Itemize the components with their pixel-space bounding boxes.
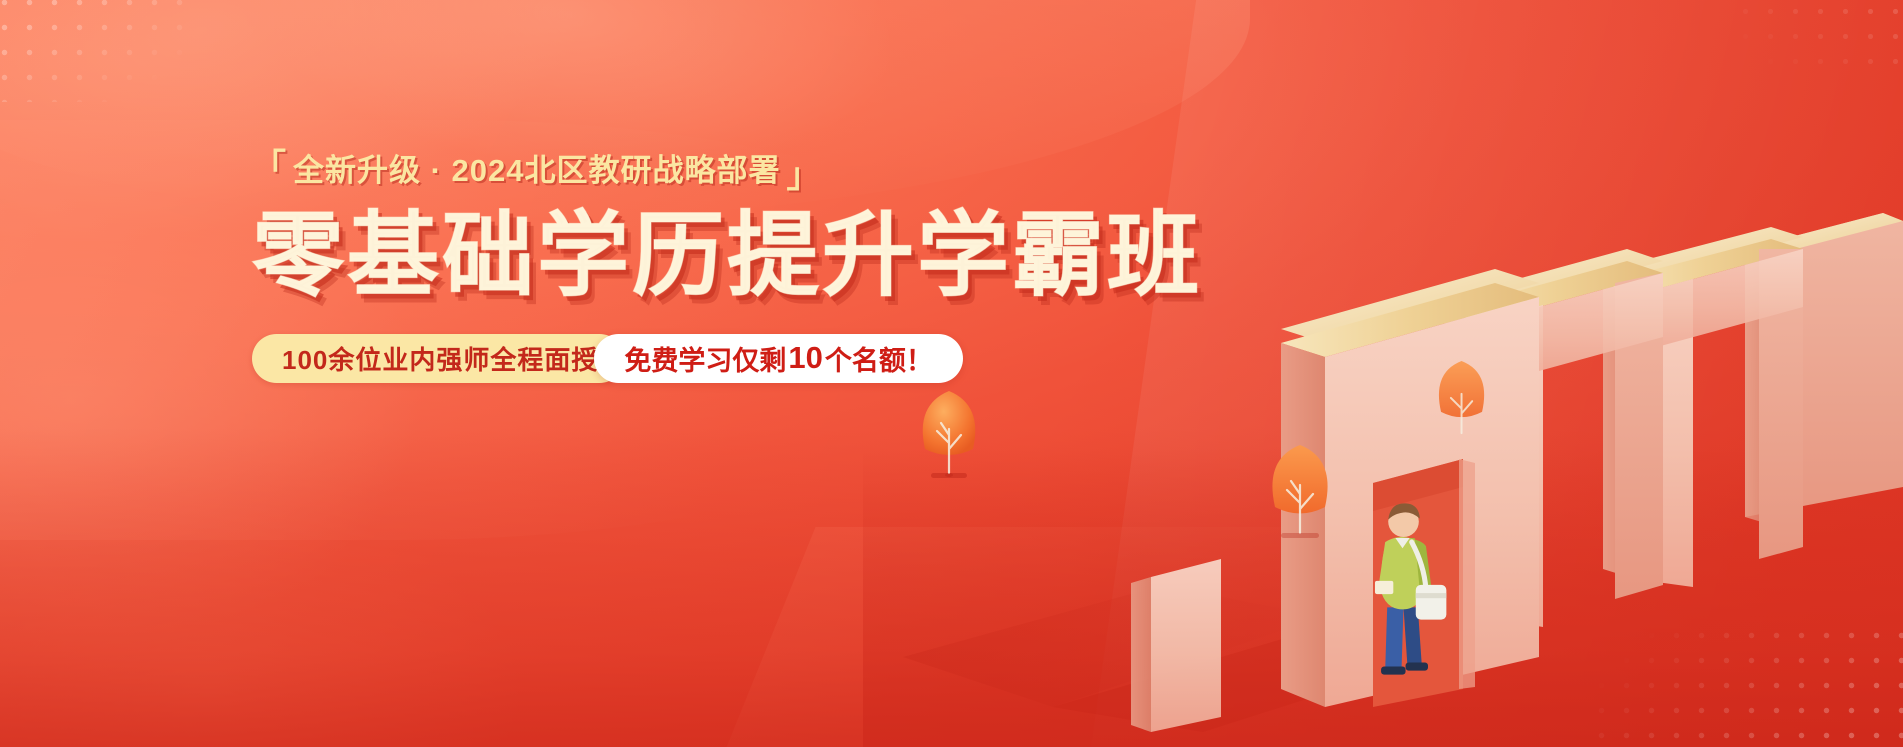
seats-prefix-label: 免费学习仅剩 xyxy=(624,339,786,378)
bracket-open-icon: 「 xyxy=(252,150,287,184)
bracket-close-icon: 」 xyxy=(787,159,822,193)
banner-subtitle-text: 全新升级 · 2024北区教研战略部署 xyxy=(293,155,781,186)
foreground-wall xyxy=(1131,559,1221,732)
dot-grid-icon-top-left xyxy=(0,0,197,102)
exclamation-mark: ！ xyxy=(906,339,933,378)
promo-banner: 「 全新升级 · 2024北区教研战略部署 」 零基础学历提升学霸班 100余位… xyxy=(0,0,1903,747)
copy-block: 「 全新升级 · 2024北区教研战略部署 」 零基础学历提升学霸班 100余位… xyxy=(252,150,1012,383)
badge-row: 100余位业内强师全程面授 免费学习仅剩10个名额！ xyxy=(252,334,1012,383)
instructors-badge: 100余位业内强师全程面授 xyxy=(252,334,624,383)
dot-grid-icon-top-right xyxy=(1733,0,1903,84)
seats-count: 10 xyxy=(786,340,824,376)
seats-suffix-label: 个名额 xyxy=(825,339,906,378)
banner-subtitle: 「 全新升级 · 2024北区教研战略部署 」 xyxy=(252,150,1012,190)
banner-headline: 零基础学历提升学霸班 xyxy=(252,210,1012,304)
tree-left xyxy=(923,391,976,478)
seats-remaining-badge[interactable]: 免费学习仅剩10个名额！ xyxy=(594,334,962,383)
